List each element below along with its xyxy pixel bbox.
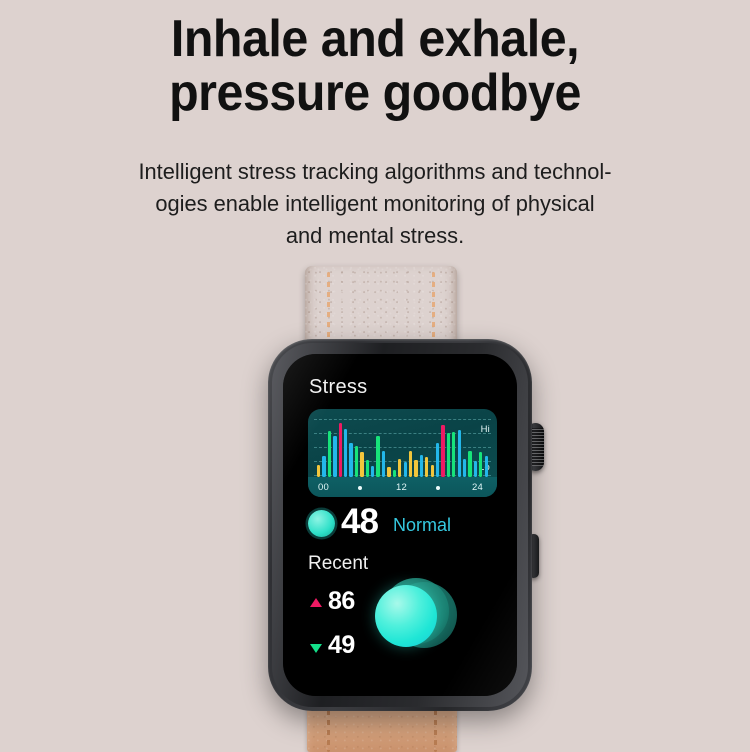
chart-bar	[333, 436, 336, 477]
chart-bar	[425, 457, 428, 477]
chart-bar	[447, 433, 450, 477]
chart-bar	[458, 430, 461, 477]
chart-bar	[371, 466, 374, 477]
chart-bar	[328, 431, 331, 477]
chart-bar	[485, 456, 488, 477]
current-stress-status: Normal	[393, 515, 451, 536]
chart-bar	[387, 467, 390, 477]
chart-bar	[393, 470, 396, 477]
chart-bar	[398, 459, 401, 477]
chart-bar	[479, 452, 482, 477]
stress-bar-chart	[316, 419, 489, 477]
axis-tick-label: 00	[318, 482, 329, 493]
watch-case-bezel: Stress Hi Lo 001224 48 Normal	[272, 343, 528, 707]
axis-tick-dot	[358, 486, 362, 490]
axis-tick-label: 12	[396, 482, 407, 493]
chart-bar	[382, 451, 385, 477]
chart-bar	[360, 452, 363, 477]
stress-level-dot	[308, 510, 335, 537]
chart-bar	[366, 460, 369, 477]
chart-bar	[355, 446, 358, 477]
chart-bar	[414, 460, 417, 477]
chart-bar	[431, 465, 434, 477]
stress-chart-card[interactable]: Hi Lo 001224	[308, 409, 497, 497]
chart-bar	[344, 429, 347, 477]
axis-tick-dot	[436, 486, 440, 490]
chart-bar	[463, 459, 466, 477]
chart-time-axis: 001224	[308, 477, 497, 497]
watch-case: Stress Hi Lo 001224 48 Normal	[268, 339, 532, 711]
chart-bar	[404, 462, 407, 477]
screen-title: Stress	[309, 376, 367, 399]
chart-bar	[322, 456, 325, 477]
recent-high-value: 86	[328, 587, 355, 616]
current-stress-value: 48	[341, 502, 378, 542]
chart-bar	[436, 443, 439, 477]
axis-tick-label: 24	[472, 482, 483, 493]
recent-section-label: Recent	[308, 553, 368, 575]
chart-bar	[474, 461, 477, 477]
chart-bar	[452, 432, 455, 477]
chart-bar	[441, 425, 444, 477]
chart-bar	[376, 436, 379, 477]
smartwatch-product-image: Stress Hi Lo 001224 48 Normal	[0, 0, 750, 750]
triangle-up-icon	[310, 598, 322, 607]
recent-low-value: 49	[328, 631, 355, 660]
watch-screen[interactable]: Stress Hi Lo 001224 48 Normal	[283, 354, 517, 696]
breathe-orb-button[interactable]	[375, 585, 437, 647]
chart-bar	[409, 451, 412, 477]
chart-bar	[349, 443, 352, 477]
chart-bar	[468, 451, 471, 477]
chart-bar	[339, 423, 342, 477]
triangle-down-icon	[310, 644, 322, 653]
chart-bar	[420, 455, 423, 477]
chart-bar	[317, 465, 320, 477]
stress-app-screen: Stress Hi Lo 001224 48 Normal	[283, 354, 517, 696]
